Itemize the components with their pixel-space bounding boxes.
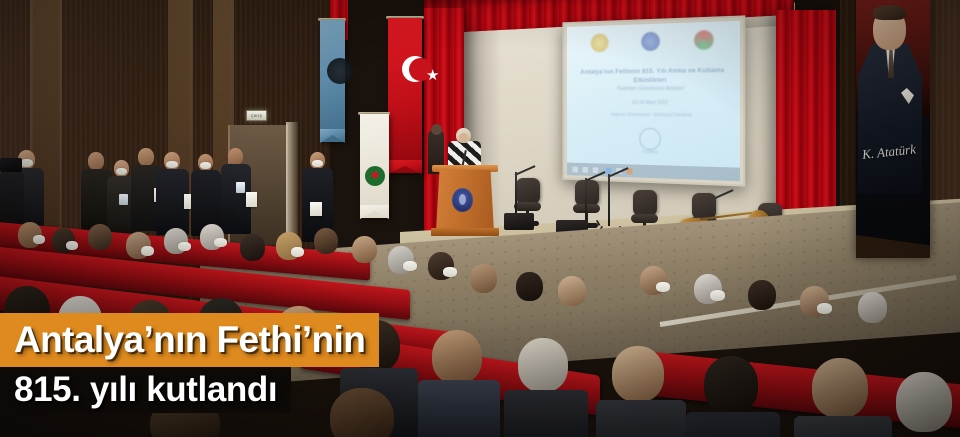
- face-mask: [710, 290, 725, 301]
- face-mask: [200, 162, 211, 169]
- mic-pole: [515, 172, 517, 214]
- attendee-head: [812, 358, 868, 418]
- banner-white-logo-icon: [365, 166, 385, 186]
- attendee-head: [330, 388, 394, 437]
- attendee-head: [352, 236, 377, 263]
- attendee-torso: [596, 400, 686, 437]
- crescent-icon: [402, 56, 428, 82]
- slide-footer: Antalya: [572, 148, 733, 157]
- attendee-torso: [794, 416, 892, 437]
- attendee-head: [558, 276, 586, 306]
- exit-sign: ÇIKIŞ: [246, 110, 267, 121]
- face-mask: [33, 235, 45, 244]
- face-mask: [312, 160, 323, 167]
- headline-line-2: 815. yılı kutlandı: [0, 367, 291, 413]
- chair-back: [633, 190, 657, 216]
- attendee-head: [432, 330, 482, 384]
- attendee-head: [138, 148, 154, 166]
- face-mask: [166, 161, 178, 168]
- attendee-head: [240, 234, 265, 261]
- attendee-head: [516, 272, 543, 301]
- chair-back: [575, 180, 599, 206]
- attendee-head: [314, 228, 338, 254]
- slide-date: 03-04 Mart 2022: [572, 100, 733, 106]
- stage-assistant-head: [431, 124, 442, 135]
- attendee-head: [612, 346, 664, 402]
- slide-title: Antalya’nın Fethinin 815. Yılı Anma ve K…: [572, 67, 733, 87]
- face-mask: [66, 241, 78, 250]
- attendee-torso: [504, 390, 588, 437]
- attendee-head: [88, 152, 104, 170]
- press-badge: [119, 194, 128, 205]
- projection-surface: Antalya’nın Fethinin 815. Yılı Anma ve K…: [567, 21, 740, 181]
- attendee-torso: [686, 412, 780, 437]
- attendee-torso: [418, 380, 500, 437]
- taskbar-icon: [606, 167, 612, 173]
- face-mask: [214, 238, 227, 247]
- document-paper: [246, 192, 257, 207]
- mic-pole: [608, 174, 610, 226]
- attendee-head: [896, 372, 952, 432]
- face-mask: [403, 261, 417, 271]
- attendee-head: [470, 264, 497, 293]
- document-paper: [310, 202, 322, 216]
- mic-pole: [585, 178, 587, 220]
- attendee-head: [704, 356, 758, 414]
- portrait-hair: [873, 5, 906, 20]
- logo-gold-icon: [590, 33, 608, 52]
- slide-logo-row: [567, 29, 740, 53]
- banner-blue-logo-icon: [327, 58, 353, 84]
- projection-screen: Antalya’nın Fethinin 815. Yılı Anma ve K…: [562, 15, 745, 186]
- doorway-light: [286, 122, 298, 250]
- chair-back: [516, 178, 540, 204]
- news-photo-canvas: ÇIKIŞ ★ Antalya’n: [0, 0, 960, 437]
- logo-redgreen-icon: [694, 30, 714, 50]
- flag-turkey: ★: [388, 18, 422, 173]
- face-mask: [178, 242, 191, 251]
- press-badge: [236, 182, 245, 193]
- attendee-head: [748, 280, 776, 310]
- video-camera-icon: [0, 158, 22, 172]
- slide-subtitle: “Fetihten Günümüze Antalya”: [572, 85, 733, 92]
- attendee-head: [228, 148, 243, 165]
- taskbar-icon: [582, 166, 588, 172]
- ataturk-portrait: K. Atatürk: [856, 0, 930, 258]
- face-mask: [656, 282, 670, 292]
- slide-seal-icon: [639, 128, 661, 150]
- face-mask: [141, 246, 154, 256]
- headline-line-1: Antalya’nın Fethi’nin: [0, 313, 379, 367]
- podium-emblem-icon: [452, 188, 473, 212]
- slide-organizer: Akdeniz Üniversitesi - Edebiyat Fakültes…: [572, 112, 733, 118]
- attendee-head: [88, 224, 112, 250]
- speaker-face: [459, 133, 468, 142]
- face-mask: [443, 267, 457, 277]
- attendee-head: [858, 292, 887, 323]
- podium-base: [431, 228, 499, 236]
- banner-white: [360, 114, 389, 218]
- star-icon: ★: [426, 68, 439, 83]
- attendee-head: [518, 338, 568, 392]
- stage-speaker-box: [504, 213, 534, 230]
- taskbar-icon: [572, 166, 577, 172]
- face-mask: [116, 168, 127, 175]
- face-mask: [817, 303, 832, 314]
- logo-blue-icon: [641, 32, 660, 52]
- banner-blue: [320, 20, 345, 142]
- face-mask: [291, 247, 304, 257]
- taskbar-icon: [593, 167, 599, 173]
